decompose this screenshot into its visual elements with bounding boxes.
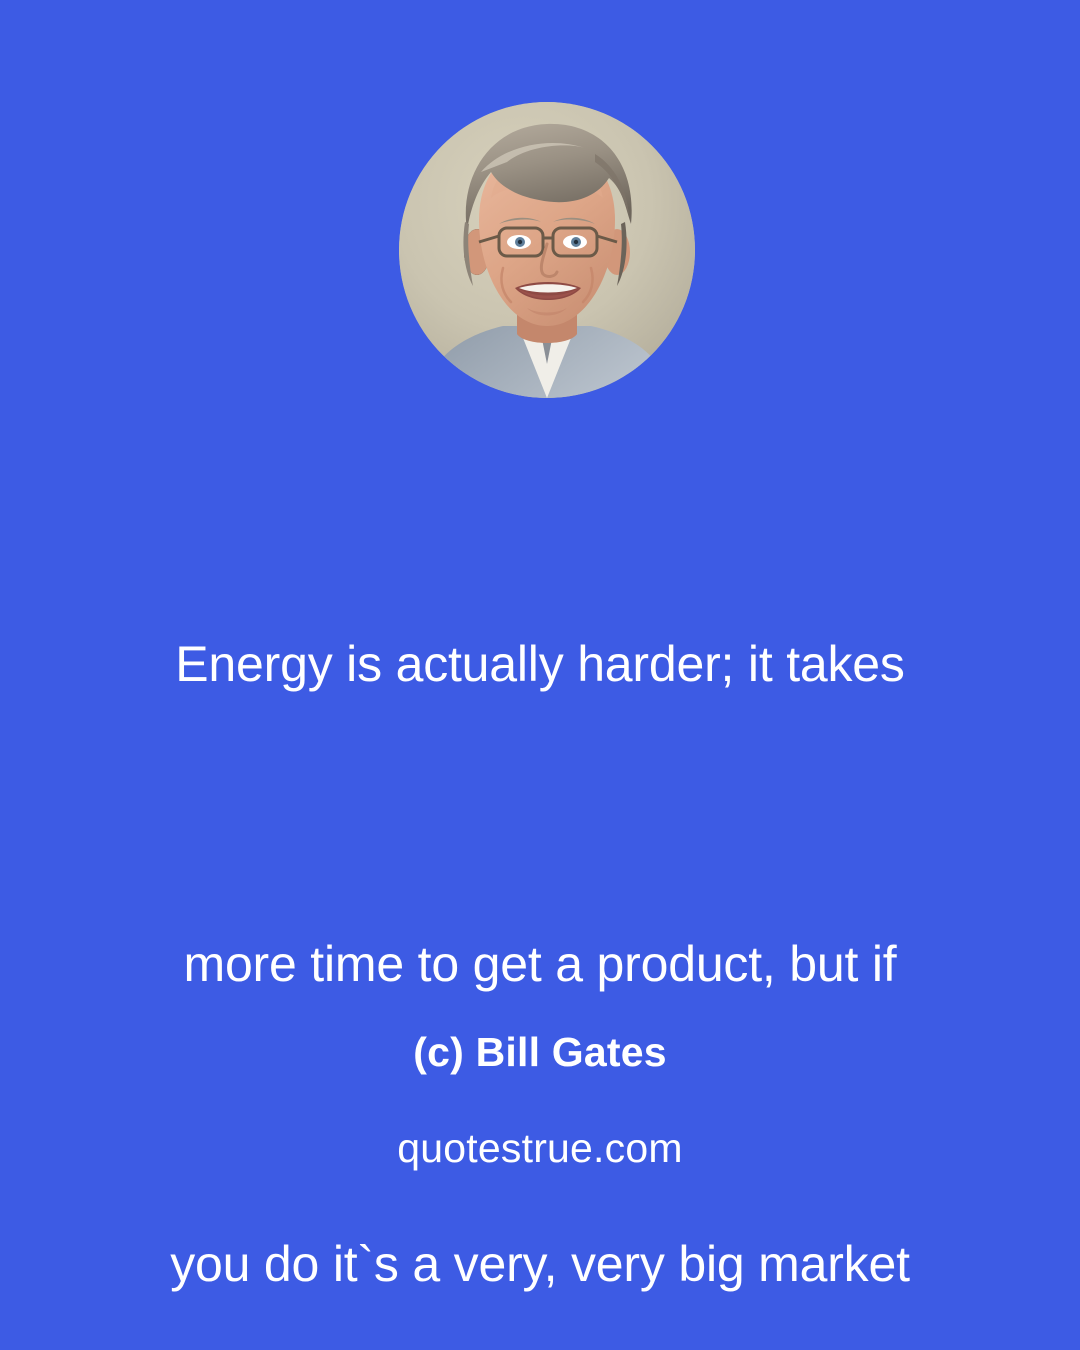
quote-line: more time to get a product, but if [90,914,990,1014]
quote-line: Energy is actually harder; it takes [90,614,990,714]
quote-attribution: (c) Bill Gates [0,1026,1080,1078]
quote-card: Energy is actually harder; it takes more… [0,0,1080,1350]
avatar [399,102,695,398]
portrait-photo-icon [399,102,695,398]
quote-text: Energy is actually harder; it takes more… [90,414,990,1350]
quote-line: you do it`s a very, very big market [90,1214,990,1314]
website-label[interactable]: quotestrue.com [0,1122,1080,1174]
